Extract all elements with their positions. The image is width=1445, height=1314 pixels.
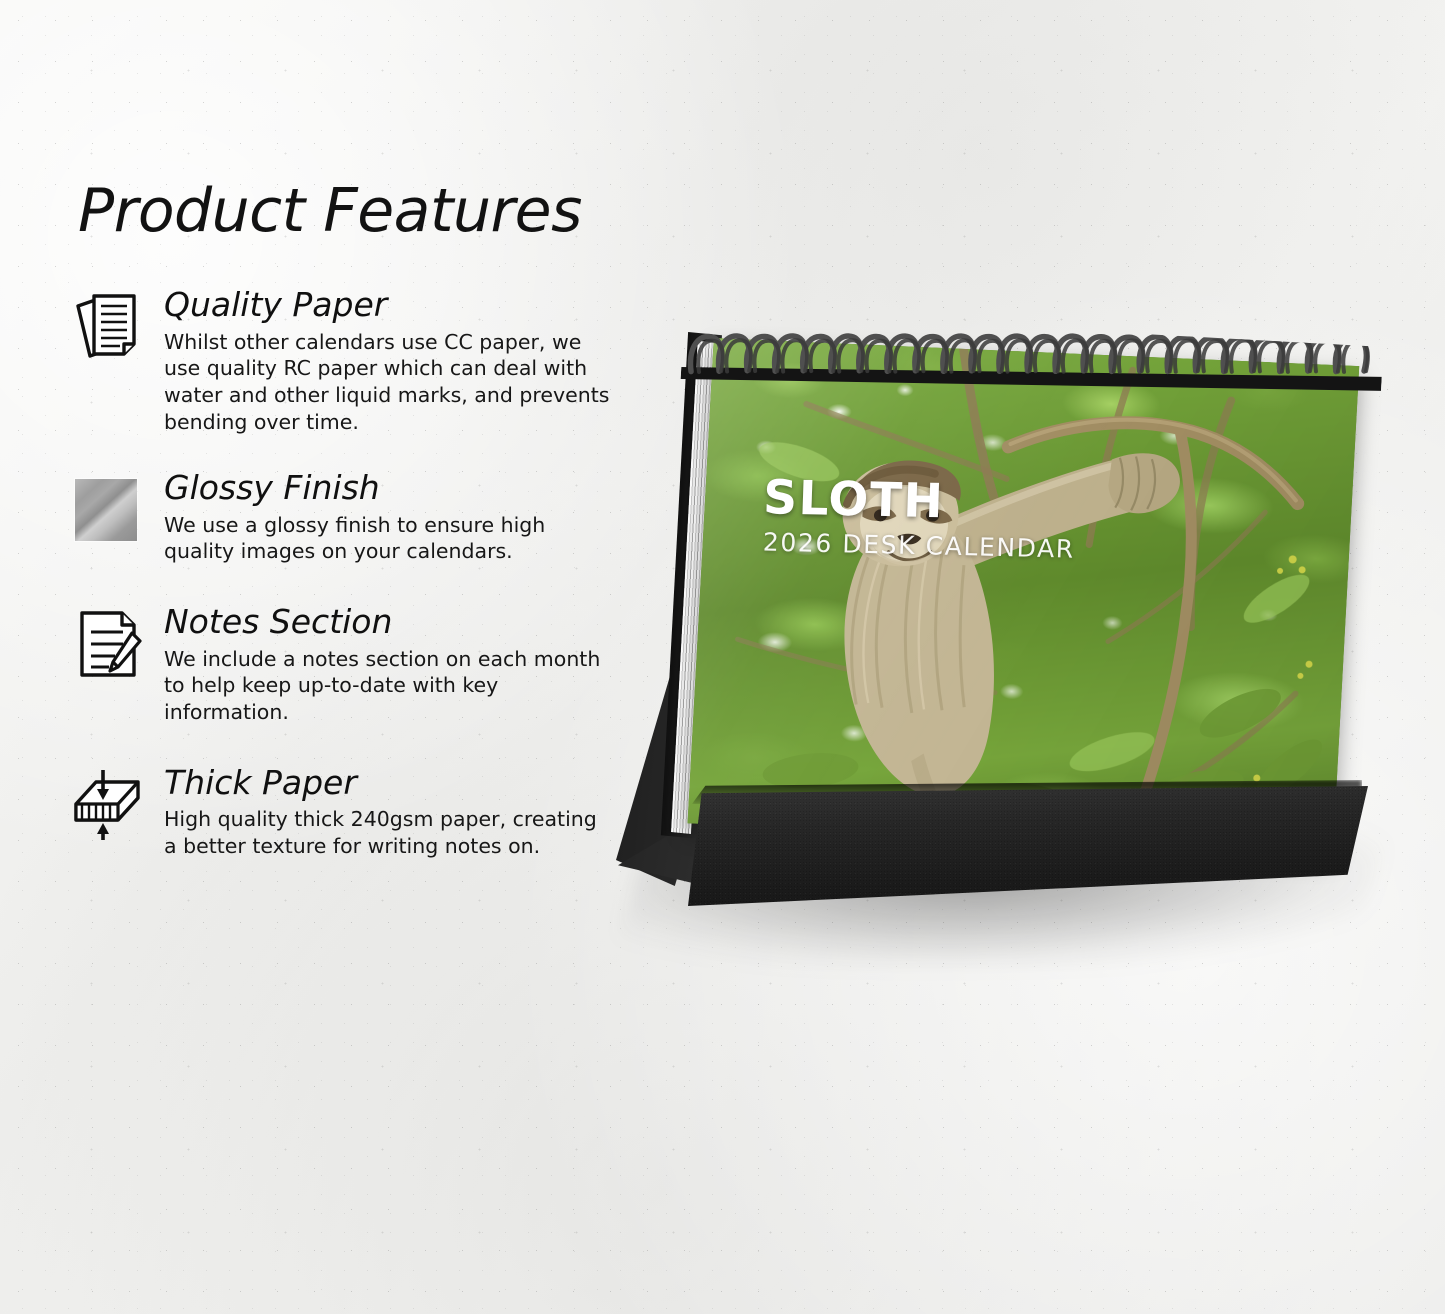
calendar-cover-photo: SLOTH 2026 DESK CALENDAR — [688, 338, 1360, 851]
feature-title: Notes Section — [164, 605, 630, 640]
feature-body: Notes Section We include a notes section… — [164, 605, 630, 726]
feature-description: High quality thick 240gsm paper, creatin… — [164, 806, 604, 859]
sloth-scene-illustration — [688, 338, 1360, 851]
page-title: Product Features — [78, 176, 582, 246]
feature-item-thick-paper: Thick Paper High quality thick 240gsm pa… — [70, 766, 630, 862]
feature-item-notes-section: Notes Section We include a notes section… — [70, 605, 630, 726]
feature-description: We include a notes section on each month… — [164, 646, 614, 726]
product-photo-desk-calendar: SLOTH 2026 DESK CALENDAR — [596, 318, 1416, 998]
gloss-gradient — [75, 479, 137, 541]
document-pencil-icon — [70, 605, 148, 683]
feature-title: Thick Paper — [164, 766, 630, 801]
feature-body: Quality Paper Whilst other calendars use… — [164, 288, 630, 435]
feature-title: Glossy Finish — [164, 471, 630, 506]
glossy-swatch-icon — [70, 471, 148, 549]
feature-description: Whilst other calendars use CC paper, we … — [164, 329, 619, 436]
feature-list: Quality Paper Whilst other calendars use… — [70, 288, 630, 862]
feature-title: Quality Paper — [164, 288, 630, 323]
feature-body: Thick Paper High quality thick 240gsm pa… — [164, 766, 630, 860]
feature-description: We use a glossy finish to ensure high qu… — [164, 512, 614, 565]
calendar-cover-title: SLOTH — [762, 470, 945, 529]
feature-item-glossy-finish: Glossy Finish We use a glossy finish to … — [70, 471, 630, 567]
feature-body: Glossy Finish We use a glossy finish to … — [164, 471, 630, 565]
feature-item-quality-paper: Quality Paper Whilst other calendars use… — [70, 288, 630, 435]
thick-slab-arrows-icon — [70, 766, 148, 844]
stacked-documents-icon — [70, 288, 148, 366]
